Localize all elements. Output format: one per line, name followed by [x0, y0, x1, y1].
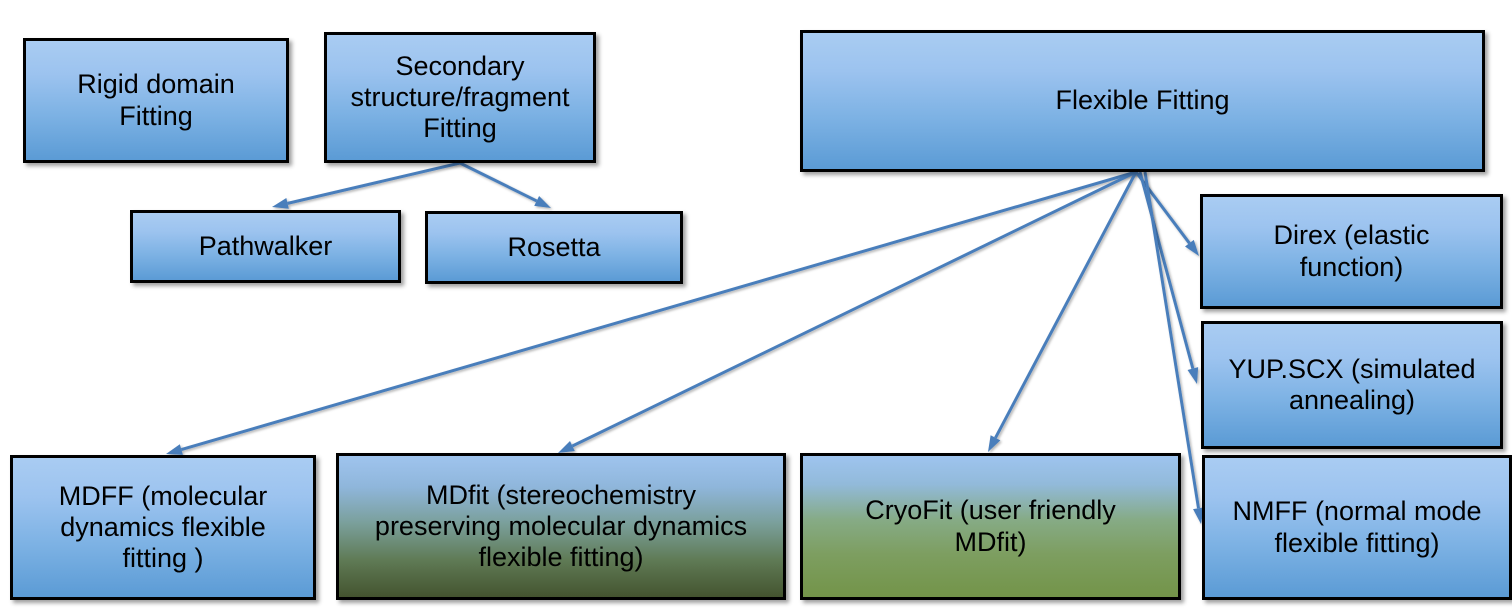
node-label-mdfit: MDfit (stereochemistry preserving molecu…: [345, 480, 777, 574]
node-flexible-fitting[interactable]: Flexible Fitting: [800, 30, 1485, 172]
node-cryofit[interactable]: CryoFit (user friendly MDfit): [800, 453, 1181, 600]
arrow-flexible-to-cryofit: [988, 172, 1136, 452]
node-direx[interactable]: Direx (elastic function): [1200, 194, 1503, 309]
node-label-secondary-structure-fragment-fitting: Secondary structure/fragment Fitting: [333, 51, 587, 145]
node-mdfit[interactable]: MDfit (stereochemistry preserving molecu…: [336, 453, 786, 600]
node-yup-scx[interactable]: YUP.SCX (simulated annealing): [1201, 321, 1503, 449]
node-rosetta[interactable]: Rosetta: [425, 211, 683, 284]
arrow-secondary-to-rosetta: [460, 163, 551, 208]
node-label-cryofit: CryoFit (user friendly MDfit): [809, 495, 1172, 558]
arrow-secondary-to-pathwalker: [272, 163, 460, 209]
node-nmff[interactable]: NMFF (normal mode flexible fitting): [1202, 455, 1512, 600]
node-label-rigid-domain-fitting: Rigid domain Fitting: [32, 69, 280, 132]
node-mdff[interactable]: MDFF (molecular dynamics flexible fittin…: [10, 455, 316, 600]
node-label-direx: Direx (elastic function): [1209, 220, 1494, 283]
node-pathwalker[interactable]: Pathwalker: [130, 210, 401, 283]
node-label-rosetta: Rosetta: [434, 232, 674, 263]
diagram-canvas: Rigid domain FittingSecondary structure/…: [0, 0, 1512, 610]
node-label-pathwalker: Pathwalker: [139, 231, 392, 262]
node-label-yup-scx: YUP.SCX (simulated annealing): [1210, 354, 1494, 417]
arrow-flexible-to-yupscx: [1140, 172, 1198, 384]
node-rigid-domain-fitting[interactable]: Rigid domain Fitting: [23, 38, 289, 163]
arrow-flexible-to-direx: [1136, 172, 1199, 256]
node-label-nmff: NMFF (normal mode flexible fitting): [1211, 496, 1503, 559]
node-label-mdff: MDFF (molecular dynamics flexible fittin…: [19, 481, 307, 575]
node-secondary-structure-fragment-fitting[interactable]: Secondary structure/fragment Fitting: [324, 32, 596, 163]
node-label-flexible-fitting: Flexible Fitting: [809, 85, 1476, 116]
